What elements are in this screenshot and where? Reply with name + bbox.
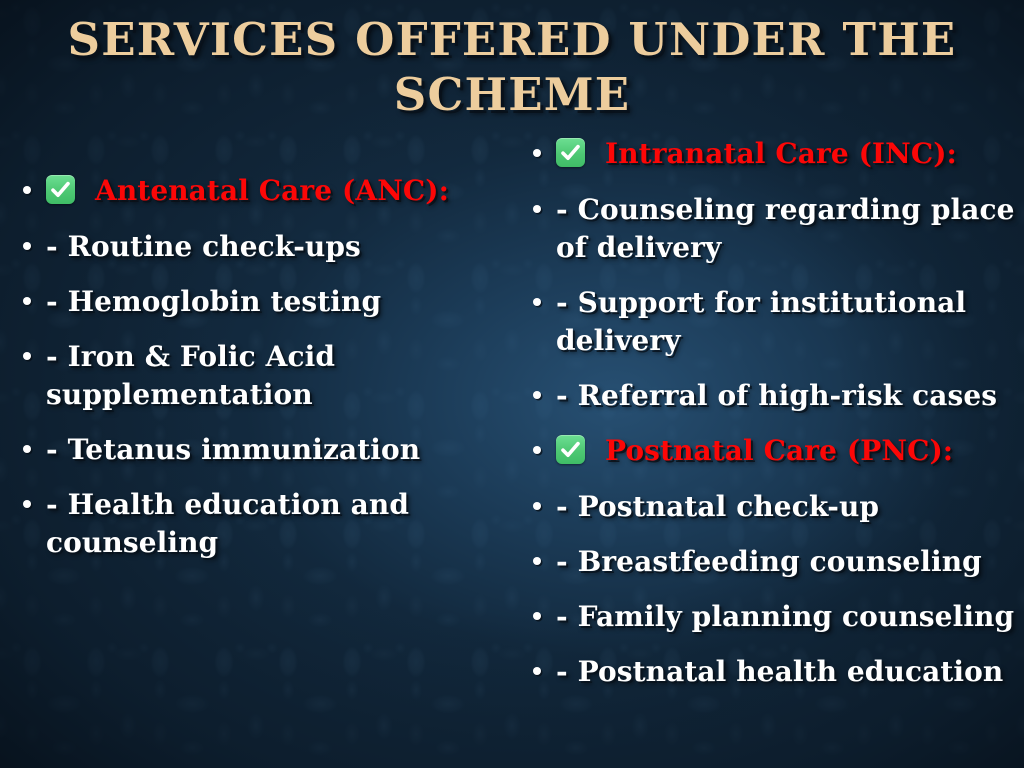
bullet-item-text: - Routine check-ups: [46, 230, 361, 263]
bullet-dot-icon: [533, 205, 541, 213]
bullet-dot-icon: [533, 502, 541, 510]
bullet-list-item: - Iron & Folic Acid supplementation: [8, 338, 508, 414]
bullet-list-item: - Postnatal health education: [518, 653, 1018, 691]
bullet-list-item: - Referral of high-risk cases: [518, 377, 1018, 415]
bullet-list-item: - Breastfeeding counseling: [518, 543, 1018, 581]
section-heading-row: Intranatal Care (INC):: [518, 135, 1018, 173]
bullet-item-text: - Iron & Folic Acid supplementation: [46, 340, 335, 411]
white-check-mark-emoji-icon: [556, 138, 585, 167]
left-bullet-column: Antenatal Care (ANC):- Routine check-ups…: [8, 172, 508, 579]
bullet-item-text: - Support for institutional delivery: [556, 286, 966, 357]
bullet-item-text: - Breastfeeding counseling: [556, 545, 982, 578]
white-check-mark-emoji-icon: [556, 435, 585, 464]
bullet-dot-icon: [23, 445, 31, 453]
bullet-dot-icon: [533, 612, 541, 620]
bullet-dot-icon: [533, 298, 541, 306]
bullet-dot-icon: [533, 149, 541, 157]
right-bullet-column: Intranatal Care (INC):- Counseling regar…: [518, 135, 1018, 708]
bullet-dot-icon: [533, 391, 541, 399]
slide-content: Services offered under the scheme Antena…: [0, 0, 1024, 768]
bullet-dot-icon: [23, 500, 31, 508]
white-check-mark-emoji-icon: [46, 175, 75, 204]
section-heading-row: Antenatal Care (ANC):: [8, 172, 508, 210]
bullet-list-item: - Tetanus immunization: [8, 431, 508, 469]
section-heading-row: Postnatal Care (PNC):: [518, 432, 1018, 470]
section-heading-text: Antenatal Care (ANC):: [95, 174, 449, 207]
presentation-slide: Services offered under the scheme Antena…: [0, 0, 1024, 768]
bullet-dot-icon: [533, 667, 541, 675]
bullet-list-item: - Routine check-ups: [8, 228, 508, 266]
bullet-item-text: - Postnatal check-up: [556, 490, 879, 523]
bullet-list-item: - Family planning counseling: [518, 598, 1018, 636]
bullet-item-text: - Health education and counseling: [46, 488, 409, 559]
bullet-dot-icon: [23, 297, 31, 305]
bullet-item-text: - Hemoglobin testing: [46, 285, 381, 318]
bullet-item-text: - Referral of high-risk cases: [556, 379, 997, 412]
bullet-dot-icon: [533, 446, 541, 454]
section-heading-text: Intranatal Care (INC):: [605, 137, 957, 170]
bullet-list-item: - Health education and counseling: [8, 486, 508, 562]
bullet-item-text: - Counseling regarding place of delivery: [556, 193, 1015, 264]
bullet-item-text: - Tetanus immunization: [46, 433, 420, 466]
bullet-dot-icon: [23, 186, 31, 194]
bullet-item-text: - Family planning counseling: [556, 600, 1014, 633]
bullet-list-item: - Hemoglobin testing: [8, 283, 508, 321]
bullet-list-item: - Postnatal check-up: [518, 488, 1018, 526]
bullet-dot-icon: [533, 557, 541, 565]
bullet-item-text: - Postnatal health education: [556, 655, 1003, 688]
bullet-dot-icon: [23, 242, 31, 250]
section-heading-text: Postnatal Care (PNC):: [605, 434, 953, 467]
bullet-list-item: - Support for institutional delivery: [518, 284, 1018, 360]
slide-title: Services offered under the scheme: [60, 12, 964, 122]
bullet-list-item: - Counseling regarding place of delivery: [518, 191, 1018, 267]
bullet-dot-icon: [23, 352, 31, 360]
